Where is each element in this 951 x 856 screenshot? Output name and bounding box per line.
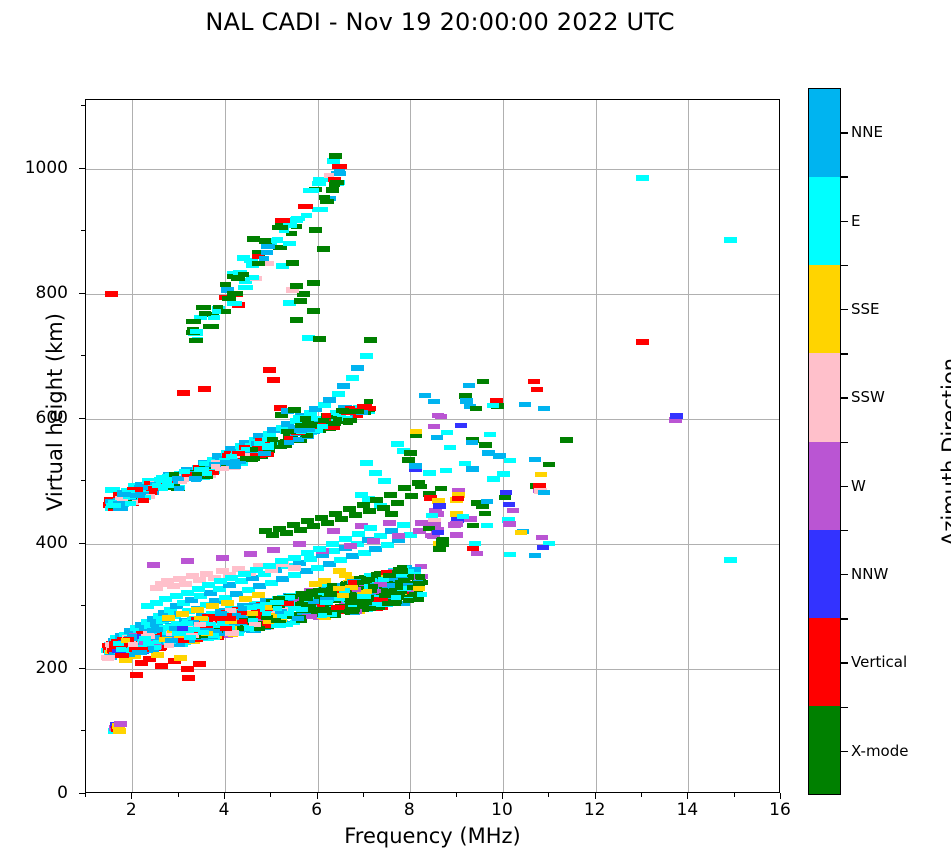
echo-mark [181, 558, 194, 564]
echo-mark [317, 424, 328, 429]
x-tick [595, 793, 596, 799]
echo-mark [367, 538, 380, 544]
echo-mark [114, 721, 127, 727]
echo-mark [317, 246, 330, 252]
echo-mark [404, 450, 417, 456]
colorbar-boundary-tick [841, 618, 848, 619]
y-tick-minor [81, 105, 85, 106]
echo-mark [360, 353, 373, 359]
echo-mark [116, 647, 126, 652]
echo-mark [167, 583, 180, 589]
echo-mark [415, 484, 427, 489]
echo-mark [299, 596, 313, 601]
echo-mark [138, 498, 149, 503]
echo-mark [351, 365, 364, 371]
echo-mark [247, 236, 260, 242]
echo-mark [196, 305, 211, 310]
echo-mark [346, 375, 359, 381]
colorbar-tick [841, 221, 848, 222]
echo-mark [324, 592, 337, 597]
echo-mark [270, 600, 284, 605]
echo-mark [190, 329, 203, 334]
echo-mark [244, 626, 254, 631]
echo-mark [326, 421, 341, 426]
echo-mark [535, 472, 547, 477]
echo-mark [267, 547, 280, 553]
echo-mark [364, 525, 377, 531]
colorbar-tick [841, 132, 848, 133]
echo-mark [531, 387, 543, 392]
x-axis-title: Frequency (MHz) [85, 824, 780, 848]
echo-mark [130, 672, 143, 678]
colorbar-tick [841, 574, 848, 575]
echo-mark [211, 464, 220, 469]
y-tick [79, 793, 85, 794]
echo-mark [357, 594, 371, 599]
echo-mark [538, 490, 550, 495]
echo-mark [487, 403, 499, 408]
echo-mark [177, 626, 188, 631]
echo-mark [220, 282, 231, 287]
echo-mark [117, 492, 131, 497]
echo-mark [385, 511, 398, 517]
y-tick-minor [81, 730, 85, 731]
echo-mark [155, 663, 168, 669]
echo-mark [263, 367, 276, 373]
echo-mark [405, 493, 418, 499]
y-tick-label: 200 [0, 658, 68, 678]
echo-mark [225, 630, 239, 635]
echo-mark [471, 551, 483, 556]
echo-mark [227, 291, 243, 296]
echo-mark [435, 486, 447, 491]
echo-mark [450, 532, 463, 538]
echo-mark [515, 530, 527, 535]
echo-mark [191, 607, 204, 613]
echo-mark [339, 536, 352, 542]
echo-mark [130, 493, 145, 498]
echo-mark [312, 207, 328, 212]
echo-mark [313, 336, 326, 342]
colorbar-boundary-tick [841, 442, 848, 443]
echo-mark [174, 486, 184, 491]
colorbar-boundary-tick [841, 353, 848, 354]
echo-mark [307, 280, 320, 286]
echo-mark [383, 573, 396, 578]
x-tick [780, 793, 781, 799]
echo-mark [174, 655, 187, 661]
echo-mark [296, 591, 309, 596]
echo-mark [176, 611, 189, 617]
echo-mark [466, 440, 478, 445]
colorbar [808, 88, 841, 795]
echo-mark [538, 406, 550, 411]
echo-mark [258, 451, 271, 456]
echo-mark [392, 533, 405, 539]
x-tick-minor [178, 793, 179, 797]
echo-mark [428, 399, 440, 404]
echo-mark [467, 523, 479, 528]
echo-mark [344, 543, 357, 549]
page-title: NAL CADI - Nov 19 20:00:00 2022 UTC [0, 8, 880, 36]
plot-area [85, 99, 780, 793]
echo-mark [423, 470, 436, 476]
echo-mark [322, 413, 331, 418]
echo-mark [101, 655, 115, 660]
echo-mark [238, 606, 247, 611]
echo-mark [177, 390, 190, 396]
echo-mark [636, 339, 649, 345]
x-tick-minor [456, 793, 457, 797]
echo-mark [182, 675, 195, 681]
echo-mark [225, 575, 238, 581]
x-tick [409, 793, 410, 799]
gridline-vertical [318, 100, 319, 792]
echo-mark [162, 615, 175, 621]
gridline-vertical [503, 100, 504, 792]
echo-mark [301, 550, 314, 556]
echo-mark [262, 445, 274, 450]
echo-mark [280, 530, 293, 536]
x-tick-label: 6 [287, 800, 347, 820]
echo-mark [342, 409, 356, 414]
echo-mark [194, 622, 206, 627]
echo-mark [320, 600, 333, 605]
echo-mark [262, 611, 271, 616]
echo-mark [266, 532, 279, 538]
colorbar-segment-vertical [809, 618, 840, 706]
y-tick [79, 668, 85, 669]
echo-mark [327, 528, 340, 534]
colorbar-boundary-tick [841, 530, 848, 531]
echo-mark [206, 603, 219, 609]
echo-mark [326, 187, 339, 193]
echo-mark [391, 441, 404, 447]
echo-mark [296, 607, 308, 612]
echo-mark [198, 386, 211, 392]
gridline-horizontal [86, 169, 779, 170]
echo-mark [293, 541, 306, 547]
echo-mark [470, 406, 482, 411]
x-tick-label: 16 [750, 800, 810, 820]
echo-mark [463, 383, 475, 388]
gridline-vertical [596, 100, 597, 792]
x-tick [224, 793, 225, 799]
echo-mark [113, 728, 126, 734]
echo-mark [250, 567, 263, 573]
echo-mark [273, 245, 287, 250]
echo-mark [221, 600, 234, 606]
x-tick-minor [548, 793, 549, 797]
echo-mark [259, 256, 269, 261]
echo-mark [391, 500, 404, 506]
echo-mark [323, 397, 336, 403]
echo-mark [320, 199, 334, 204]
echo-mark [139, 636, 151, 641]
echo-mark [292, 616, 304, 621]
echo-mark [415, 520, 428, 526]
echo-mark [309, 227, 322, 233]
echo-mark [529, 457, 541, 462]
echo-mark [216, 555, 229, 561]
y-tick [79, 168, 85, 169]
ionogram-figure: NAL CADI - Nov 19 20:00:00 2022 UTC 2468… [0, 0, 951, 856]
echo-mark [272, 225, 288, 230]
x-tick-label: 8 [379, 800, 439, 820]
echo-mark [301, 213, 312, 218]
echo-mark [487, 476, 500, 482]
echo-mark [370, 497, 383, 503]
echo-mark [536, 535, 548, 540]
echo-mark [477, 379, 489, 384]
echo-mark [504, 552, 516, 557]
colorbar-boundary-tick [841, 176, 848, 177]
echo-mark [724, 237, 737, 243]
echo-mark [479, 442, 492, 448]
echo-mark [352, 531, 365, 537]
echo-mark [378, 478, 391, 484]
echo-mark [220, 626, 232, 631]
echo-mark [433, 546, 446, 552]
echo-mark [466, 466, 479, 472]
echo-mark [179, 581, 192, 587]
y-tick [79, 293, 85, 294]
echo-mark [181, 666, 194, 672]
echo-mark [481, 499, 493, 504]
echo-mark [132, 650, 147, 655]
echo-mark [333, 568, 346, 574]
echo-mark [222, 616, 236, 621]
y-tick [79, 418, 85, 419]
echo-mark [162, 483, 174, 488]
echo-mark [106, 503, 121, 508]
echo-mark [154, 477, 169, 482]
y-tick [79, 543, 85, 544]
echo-mark [503, 521, 516, 527]
echo-mark [285, 595, 295, 600]
y-axis-title: Virtual height (km) [43, 232, 67, 592]
echo-mark [227, 301, 242, 306]
colorbar-label-w: W [851, 477, 866, 495]
echo-mark [263, 563, 276, 569]
echo-mark [147, 628, 160, 633]
echo-mark [326, 541, 339, 547]
x-tick-label: 12 [565, 800, 625, 820]
echo-mark [507, 508, 519, 513]
colorbar-label-nnw: NNW [851, 565, 888, 583]
colorbar-segment-ssw [809, 353, 840, 441]
colorbar-label-vertical: Vertical [851, 653, 907, 671]
echo-mark [238, 571, 251, 577]
y-tick-minor [81, 355, 85, 356]
echo-mark [337, 383, 350, 389]
echo-mark [186, 319, 201, 324]
echo-mark [360, 460, 373, 466]
echo-mark [221, 309, 231, 314]
x-tick [131, 793, 132, 799]
echo-mark [398, 485, 411, 491]
colorbar-boundary-tick [841, 265, 848, 266]
echo-mark [165, 638, 178, 643]
echo-mark [286, 260, 299, 266]
echo-mark [528, 379, 540, 384]
echo-mark [334, 169, 345, 174]
colorbar-segment-nne [809, 89, 840, 177]
echo-mark [271, 238, 283, 243]
y-tick-minor [81, 480, 85, 481]
echo-mark [297, 291, 310, 297]
echo-mark [504, 458, 516, 463]
x-tick [502, 793, 503, 799]
echo-mark [432, 530, 444, 535]
echo-mark [529, 553, 541, 558]
colorbar-tick [841, 397, 848, 398]
echo-mark [250, 456, 260, 461]
echo-mark [344, 609, 359, 614]
gridline-horizontal [86, 294, 779, 295]
gridline-vertical [132, 100, 133, 792]
colorbar-segment-sse [809, 265, 840, 353]
echo-mark [428, 424, 440, 429]
x-tick-label: 4 [194, 800, 254, 820]
echo-mark [357, 404, 372, 409]
echo-mark [183, 621, 193, 626]
colorbar-boundary-tick [841, 707, 848, 708]
x-tick-minor [85, 793, 86, 797]
y-tick-minor [81, 230, 85, 231]
echo-mark [415, 574, 425, 579]
echo-mark [202, 471, 212, 476]
colorbar-label-nne: NNE [851, 123, 883, 141]
y-tick-label: 1000 [0, 158, 68, 178]
echo-mark [444, 445, 456, 450]
colorbar-label-ssw: SSW [851, 388, 885, 406]
echo-mark [382, 601, 397, 606]
echo-mark [284, 440, 294, 445]
echo-mark [143, 641, 154, 646]
colorbar-label-x-mode: X-mode [851, 742, 908, 760]
echo-mark [431, 435, 443, 440]
echo-mark [275, 558, 288, 564]
echo-mark [313, 546, 326, 552]
echo-mark [361, 578, 372, 583]
echo-mark [312, 181, 326, 186]
echo-mark [476, 503, 489, 509]
colorbar-title: Azimuth Direction [938, 272, 951, 632]
echo-mark [151, 652, 164, 658]
echo-mark [271, 618, 281, 623]
echo-mark [288, 407, 301, 413]
echo-mark [357, 502, 370, 508]
echo-mark [413, 596, 424, 601]
echo-mark [246, 611, 258, 616]
x-tick-minor [734, 793, 735, 797]
echo-mark [413, 586, 425, 591]
x-tick-minor [641, 793, 642, 797]
echo-mark [294, 298, 307, 304]
echo-mark [332, 391, 345, 397]
echo-mark [397, 522, 410, 528]
echo-mark [335, 516, 348, 522]
echo-mark [469, 541, 481, 546]
y-tick-minor [81, 605, 85, 606]
echo-mark [484, 432, 496, 437]
echo-mark [288, 565, 301, 571]
x-tick-minor [363, 793, 364, 797]
echo-mark [457, 514, 469, 519]
echo-mark [231, 276, 245, 281]
echo-mark [307, 523, 320, 529]
echo-mark [247, 605, 257, 610]
echo-mark [363, 508, 376, 514]
echo-mark [189, 476, 202, 481]
echo-mark [321, 520, 334, 526]
echo-mark [419, 393, 431, 398]
x-tick-minor [270, 793, 271, 797]
echo-mark [377, 505, 390, 511]
echo-mark [433, 503, 446, 509]
echo-mark [333, 586, 345, 591]
echo-mark [503, 502, 515, 507]
echo-mark [275, 218, 290, 223]
x-tick [317, 793, 318, 799]
echo-mark [252, 261, 265, 266]
echo-mark [432, 413, 444, 418]
echo-mark [343, 418, 357, 423]
echo-mark [455, 423, 467, 428]
echo-mark [189, 338, 203, 343]
echo-mark [288, 555, 301, 561]
echo-mark [398, 578, 409, 583]
echo-mark [198, 630, 209, 635]
colorbar-tick [841, 662, 848, 663]
echo-mark [543, 462, 555, 467]
echo-mark [384, 492, 397, 498]
echo-mark [368, 584, 378, 589]
echo-mark [199, 461, 209, 466]
colorbar-segment-nnw [809, 530, 840, 618]
echo-mark [670, 413, 683, 419]
gridline-vertical [410, 100, 411, 792]
x-tick-label: 14 [657, 800, 717, 820]
echo-mark [294, 527, 307, 533]
echo-mark [364, 337, 377, 343]
echo-mark [304, 423, 317, 428]
echo-mark [239, 596, 252, 602]
echo-mark [391, 595, 401, 600]
echo-mark [283, 241, 296, 246]
echo-mark [261, 250, 273, 255]
echo-mark [397, 565, 407, 570]
echo-mark [267, 377, 280, 383]
colorbar-segment-e [809, 177, 840, 265]
colorbar-label-e: E [851, 212, 860, 230]
echo-mark [467, 546, 479, 551]
echo-mark [479, 511, 491, 516]
echo-mark [261, 244, 275, 249]
x-tick [687, 793, 688, 799]
colorbar-tick [841, 486, 848, 487]
colorbar-segment-x-mode [809, 706, 840, 794]
echo-mark [179, 469, 190, 474]
echo-mark [329, 153, 342, 159]
echo-mark [184, 635, 196, 640]
gridline-vertical [688, 100, 689, 792]
echo-mark [481, 523, 493, 528]
echo-mark [290, 317, 303, 323]
x-tick-label: 10 [472, 800, 532, 820]
echo-mark [193, 661, 206, 667]
